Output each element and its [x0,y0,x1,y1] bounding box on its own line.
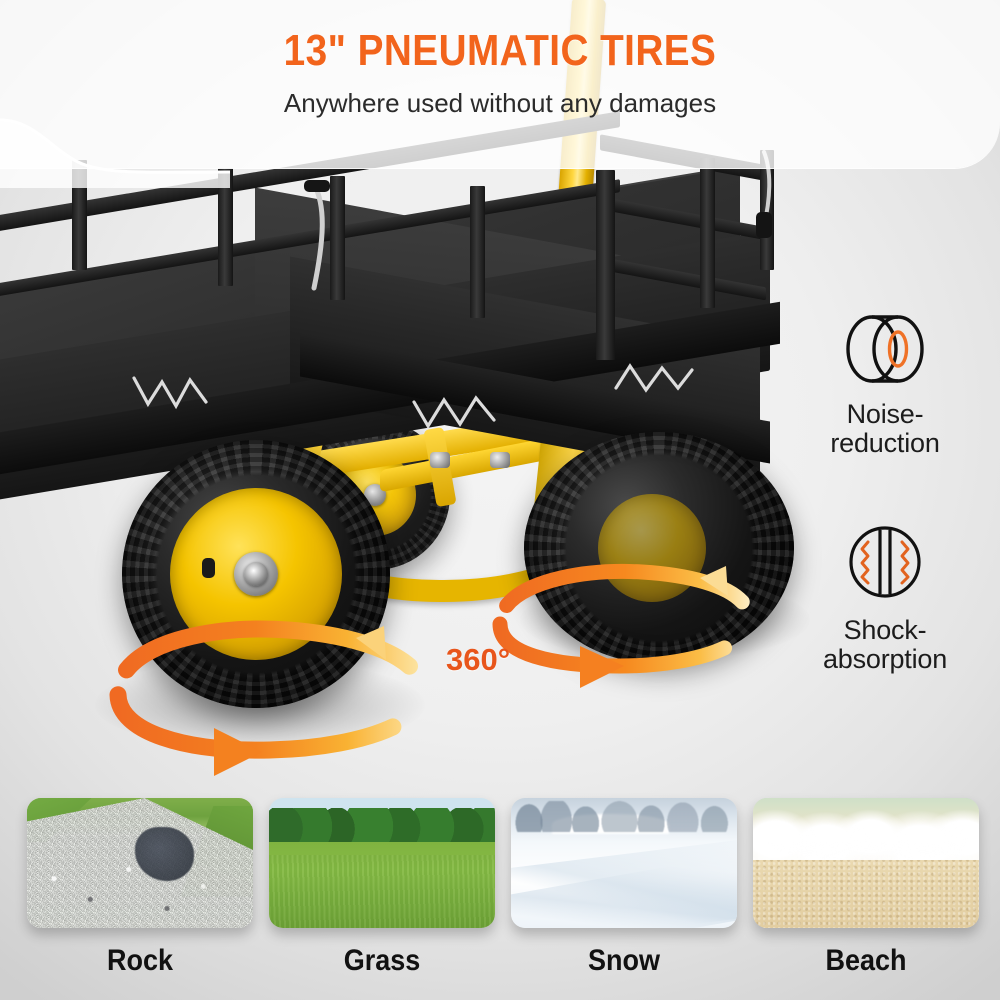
shock-wave-circle-icon [845,522,925,602]
terrain-item-beach[interactable]: Beach [753,798,979,978]
rotation-badge-label: 360° [446,642,510,677]
terrain-label-rock: Rock [38,944,241,978]
axle-bolt-left [430,452,450,468]
headline-text: 13" PNEUMATIC TIRES [60,26,940,76]
terrain-thumb-snow[interactable] [511,798,737,928]
terrain-thumb-beach[interactable] [753,798,979,928]
terrain-label-grass: Grass [280,944,483,978]
latch-left [128,372,218,416]
feature-shock-absorption-label: Shock- absorption [780,616,990,674]
latch-right [612,362,698,404]
terrain-item-snow[interactable]: Snow [511,798,737,978]
banner-curve-decoration [0,118,230,188]
axle-bolt-right [490,452,510,468]
rotation-swirl-left [56,620,456,790]
latch-center [408,392,504,436]
product-feature-image: 360° 13" PNEUMATIC TIRES Anywhere used w… [0,0,1000,1000]
feature-noise-reduction-label: Noise- reduction [780,400,990,458]
wheel-hub-cap-left [244,562,268,586]
terrain-label-beach: Beach [764,944,967,978]
feature-shock-absorption: Shock- absorption [780,522,990,674]
terrain-thumb-grass[interactable] [269,798,495,928]
rotation-badge-360: 360° [446,642,510,678]
terrain-thumb-rock[interactable] [27,798,253,928]
tire-cylinder-icon [842,312,928,386]
terrain-thumbnail-row: Rock Grass Snow Beach [0,790,1000,1000]
bed-post-4 [470,186,485,318]
subheadline-text: Anywhere used without any damages [0,88,1000,119]
bed-corner-post [596,170,615,360]
terrain-label-snow: Snow [522,944,725,978]
tire-valve-stem [202,558,215,578]
terrain-item-grass[interactable]: Grass [269,798,495,978]
terrain-item-rock[interactable]: Rock [27,798,253,978]
corner-rod-pin [300,180,340,300]
bed-post-5 [700,158,715,308]
feature-noise-reduction: Noise- reduction [780,312,990,458]
